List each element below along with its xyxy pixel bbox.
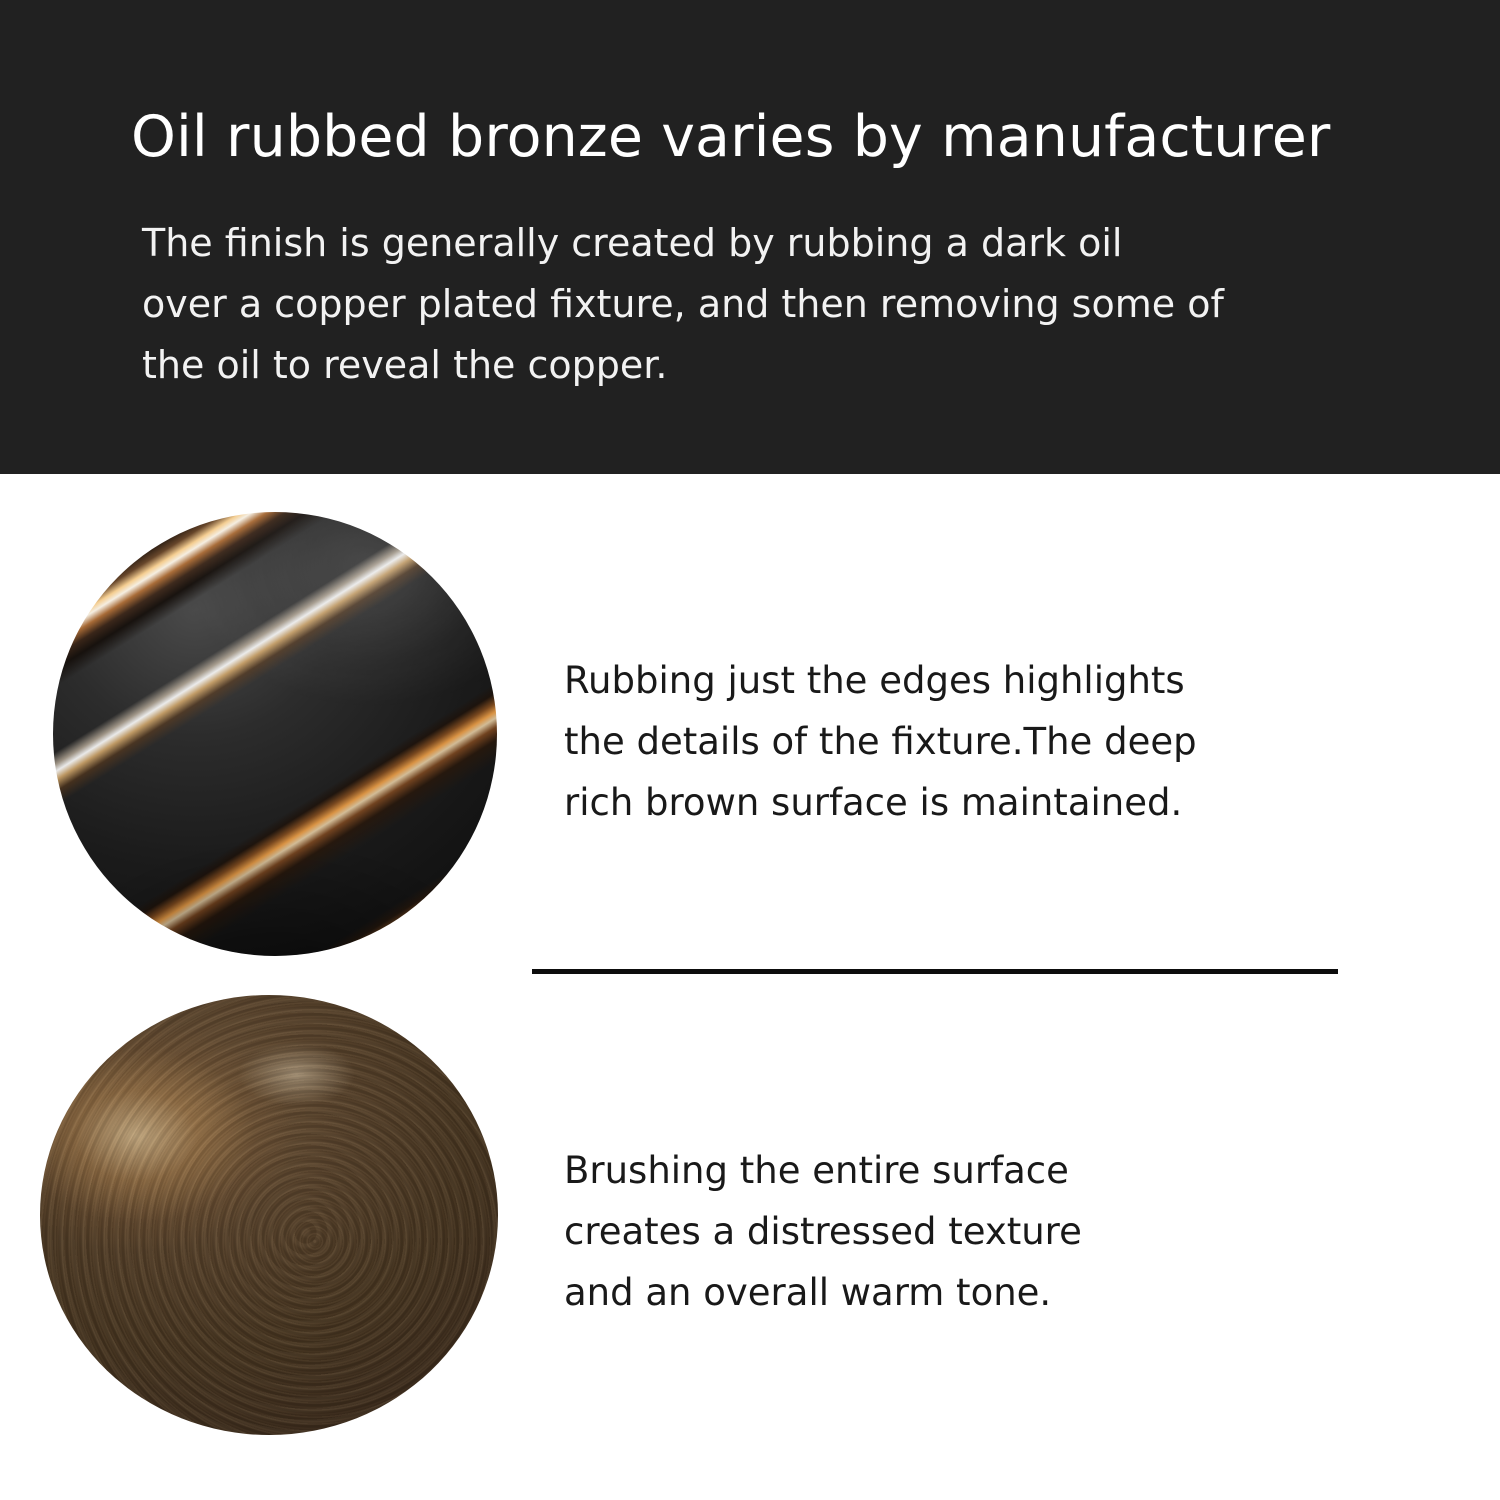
full-brushed-caption: Brushing the entire surface creates a di… [564,1140,1264,1323]
edge-rubbed-bronze-swatch [53,512,497,956]
section-divider [532,969,1338,974]
header-band: Oil rubbed bronze varies by manufacturer… [0,0,1500,474]
header-description-line-1: The finish is generally created by rubbi… [142,213,1322,274]
full-brushed-caption-line-1: Brushing the entire surface [564,1140,1264,1201]
edge-rubbed-caption-line-1: Rubbing just the edges highlights [564,650,1324,711]
edge-rubbed-caption-line-2: the details of the fixture.The deep [564,711,1324,772]
full-brushed-caption-line-2: creates a distressed texture [564,1201,1264,1262]
header-description-line-2: over a copper plated fixture, and then r… [142,274,1322,335]
product-infographic-page: Oil rubbed bronze varies by manufacturer… [0,0,1500,1500]
edge-rubbed-caption: Rubbing just the edges highlights the de… [564,650,1324,833]
edge-rubbed-caption-line-3: rich brown surface is maintained. [564,772,1324,833]
full-brushed-caption-line-3: and an overall warm tone. [564,1262,1264,1323]
full-brushed-bronze-swatch [40,995,498,1435]
page-title: Oil rubbed bronze varies by manufacturer [131,104,1391,170]
header-description-line-3: the oil to reveal the copper. [142,335,1322,396]
header-description: The finish is generally created by rubbi… [142,213,1322,396]
